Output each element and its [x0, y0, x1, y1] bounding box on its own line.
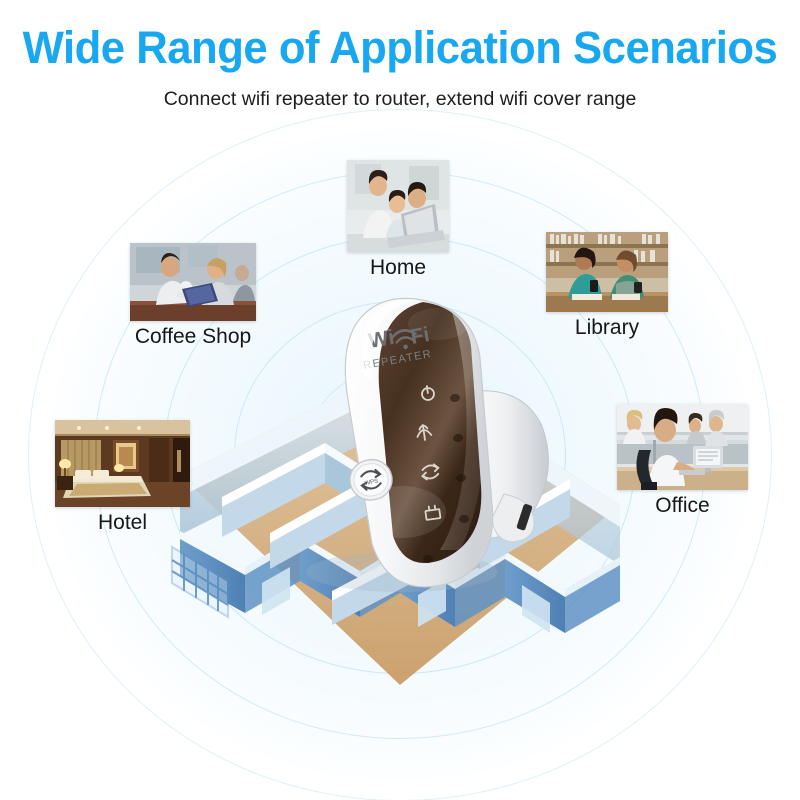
- coffee-shop-photo: [130, 243, 256, 321]
- scenario-label: Coffee Shop: [130, 325, 256, 349]
- home-photo: [347, 160, 449, 252]
- scenario-home: Home: [347, 160, 449, 280]
- office-photo: [617, 404, 748, 490]
- scenario-hotel: Hotel: [55, 420, 190, 535]
- page-subtitle: Connect wifi repeater to router, extend …: [0, 88, 800, 111]
- scenario-label: Hotel: [55, 511, 190, 535]
- scenario-coffee-shop: Coffee Shop: [130, 243, 256, 349]
- wifi-repeater-device: Wi Fi REPEATER: [252, 272, 572, 602]
- marketing-banner: Wide Range of Application Scenarios Conn…: [0, 0, 800, 800]
- scenario-label: Office: [617, 494, 748, 518]
- scenario-office: Office: [617, 404, 748, 518]
- brand-fi: Fi: [409, 323, 431, 349]
- page-title: Wide Range of Application Scenarios: [12, 22, 788, 74]
- hotel-photo: [55, 420, 190, 507]
